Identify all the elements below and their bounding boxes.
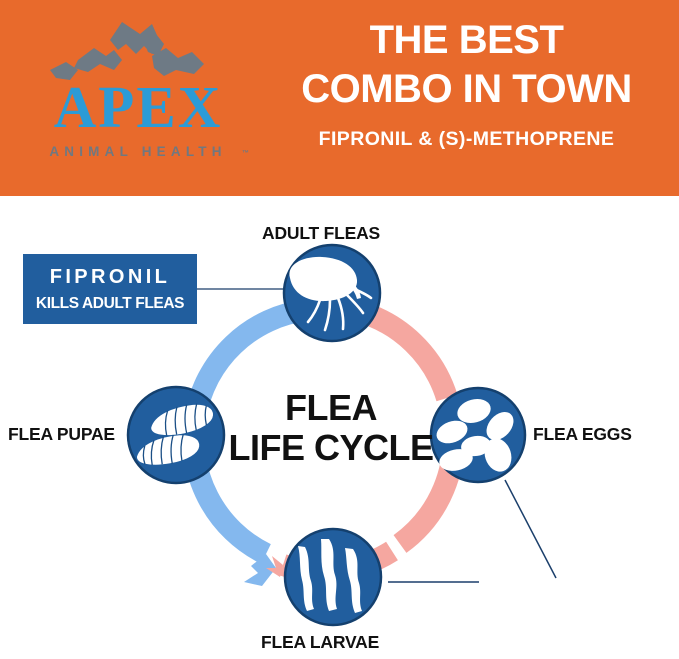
brand-logo: APEX ANIMAL HEALTH ™ <box>14 18 262 178</box>
flea-life-cycle-diagram: FLEA LIFE CYCLE ADULT FLEAS FLEA EGGS FL… <box>0 196 679 659</box>
headline-line-1: THE BEST <box>262 16 671 65</box>
stage-label-flea-larvae: FLEA LARVAE <box>261 632 379 653</box>
cycle-center-title-line-2: LIFE CYCLE <box>216 428 446 468</box>
stage-circle-pupae[interactable] <box>128 387 224 483</box>
stage-label-adult-fleas: ADULT FLEAS <box>262 223 380 244</box>
stage-label-flea-pupae: FLEA PUPAE <box>8 424 115 445</box>
logo-trademark: ™ <box>242 150 249 157</box>
subheadline: FIPRONIL & (S)-METHOPRENE <box>262 128 671 151</box>
callout-fipronil-title: FIPRONIL <box>23 266 197 288</box>
headline-group: THE BEST COMBO IN TOWN FIPRONIL & (S)-ME… <box>262 16 671 151</box>
stage-circle-larvae[interactable] <box>285 529 381 625</box>
stage-circle-adult[interactable] <box>284 245 380 341</box>
header-banner: APEX ANIMAL HEALTH ™ THE BEST COMBO IN T… <box>0 0 679 196</box>
poster-canvas: APEX ANIMAL HEALTH ™ THE BEST COMBO IN T… <box>0 0 679 659</box>
headline-line-2: COMBO IN TOWN <box>262 65 671 114</box>
cycle-center-title-line-1: FLEA <box>216 388 446 428</box>
stage-label-flea-eggs: FLEA EGGS <box>533 424 632 445</box>
logo-wordmark: APEX <box>14 78 262 137</box>
callout-fipronil-subtitle: KILLS ADULT FLEAS <box>23 295 197 312</box>
logo-tagline: ANIMAL HEALTH <box>14 144 262 159</box>
cycle-center-title: FLEA LIFE CYCLE <box>216 388 446 469</box>
callout-fipronil[interactable]: FIPRONIL KILLS ADULT FLEAS <box>23 254 197 324</box>
